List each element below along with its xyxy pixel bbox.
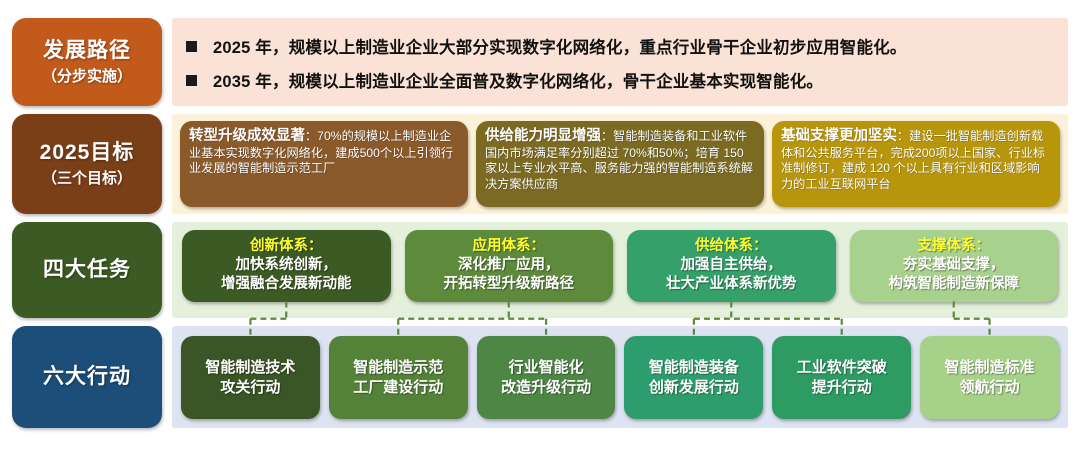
task-card-application-system[interactable]: 应用体系： 深化推广应用， 开拓转型升级新路径 <box>405 230 614 302</box>
row-development-path: 发展路径 （分步实施） 2025 年，规模以上制造业企业大部分实现数字化网络化，… <box>12 18 1068 106</box>
action-card-demo-factory[interactable]: 智能制造示范 工厂建设行动 <box>329 336 468 419</box>
action-card-line2: 创新发展行动 <box>649 379 739 396</box>
row-label-subtitle: （分步实施） <box>42 68 132 87</box>
task-card-innovation-system[interactable]: 创新体系： 加快系统创新， 增强融合发展新动能 <box>182 230 391 302</box>
goal-card-transformation[interactable]: 转型升级成效显著：70%的规模以上制造业企业基本实现数字化网络化，建成500个以… <box>180 121 468 207</box>
row-label-title: 2025目标 <box>40 140 135 166</box>
action-card-line1: 智能制造标准 <box>945 359 1035 376</box>
action-card-line2: 改造升级行动 <box>501 379 591 396</box>
action-card-technology-breakthrough[interactable]: 智能制造技术 攻关行动 <box>181 336 320 419</box>
bullet-text-2035: 2035 年，规模以上制造业企业全面普及数字化网络化，骨干企业基本实现智能化。 <box>213 68 823 92</box>
action-card-line2: 攻关行动 <box>220 379 280 396</box>
action-card-line1: 智能制造装备 <box>649 359 739 376</box>
development-path-panel: 2025 年，规模以上制造业企业大部分实现数字化网络化，重点行业骨干企业初步应用… <box>172 18 1068 106</box>
action-card-line1: 工业软件突破 <box>797 359 887 376</box>
row-label-six-actions: 六大行动 <box>12 326 162 428</box>
action-card-industry-upgrade[interactable]: 行业智能化 改造升级行动 <box>477 336 616 419</box>
square-bullet-icon <box>186 75 197 86</box>
task-card-line2: 开拓转型升级新路径 <box>411 275 608 294</box>
bullet-item: 2035 年，规模以上制造业企业全面普及数字化网络化，骨干企业基本实现智能化。 <box>186 68 1054 92</box>
task-card-line1: 夯实基础支撑， <box>856 256 1053 275</box>
task-card-heading: 应用体系： <box>411 237 608 256</box>
action-card-line2: 领航行动 <box>960 379 1020 396</box>
row-label-title: 六大行动 <box>43 364 131 390</box>
action-card-equipment-innovation[interactable]: 智能制造装备 创新发展行动 <box>624 336 763 419</box>
task-card-supply-system[interactable]: 供给体系： 加强自主供给， 壮大产业体系新优势 <box>627 230 836 302</box>
row-label-subtitle: （三个目标） <box>42 170 132 189</box>
task-card-heading: 供给体系： <box>633 237 830 256</box>
task-card-line1: 加强自主供给， <box>633 256 830 275</box>
goal-card-heading: 转型升级成效显著 <box>189 128 305 144</box>
task-card-heading: 创新体系： <box>188 237 385 256</box>
row-2025-goals: 2025目标 （三个目标） 转型升级成效显著：70%的规模以上制造业企业基本实现… <box>12 114 1068 214</box>
row-four-tasks: 四大任务 创新体系： 加快系统创新， 增强融合发展新动能 应用体系： 深化推广应… <box>12 222 1068 318</box>
row-label-development-path: 发展路径 （分步实施） <box>12 18 162 106</box>
row-label-four-tasks: 四大任务 <box>12 222 162 318</box>
action-card-line2: 提升行动 <box>812 379 872 396</box>
action-card-software-breakthrough[interactable]: 工业软件突破 提升行动 <box>772 336 911 419</box>
actions-panel: 智能制造技术 攻关行动 智能制造示范 工厂建设行动 行业智能化 改造升级行动 智… <box>172 326 1068 428</box>
action-card-line1: 行业智能化 <box>509 359 584 376</box>
bullet-item: 2025 年，规模以上制造业企业大部分实现数字化网络化，重点行业骨干企业初步应用… <box>186 34 1054 58</box>
goal-card-heading: 基础支撑更加坚实 <box>781 128 897 144</box>
task-card-heading: 支撑体系： <box>856 237 1053 256</box>
smart-manufacturing-roadmap: 发展路径 （分步实施） 2025 年，规模以上制造业企业大部分实现数字化网络化，… <box>0 0 1080 458</box>
row-label-title: 四大任务 <box>43 257 131 283</box>
task-card-line1: 深化推广应用， <box>411 256 608 275</box>
task-card-line2: 壮大产业体系新优势 <box>633 275 830 294</box>
task-card-line2: 增强融合发展新动能 <box>188 275 385 294</box>
row-six-actions: 六大行动 智能制造技术 攻关行动 智能制造示范 工厂建设行动 行业智能化 改造升… <box>12 326 1068 428</box>
task-card-line2: 构筑智能制造新保障 <box>856 275 1053 294</box>
goals-panel: 转型升级成效显著：70%的规模以上制造业企业基本实现数字化网络化，建成500个以… <box>172 114 1068 214</box>
action-card-line2: 工厂建设行动 <box>353 379 443 396</box>
goal-card-supply-capacity[interactable]: 供给能力明显增强：智能制造装备和工业软件国内市场满足率分别超过 70%和50%；… <box>476 121 764 207</box>
square-bullet-icon <box>186 41 197 52</box>
action-card-line1: 智能制造技术 <box>205 359 295 376</box>
row-label-2025-goals: 2025目标 （三个目标） <box>12 114 162 214</box>
goal-card-heading: 供给能力明显增强 <box>485 128 601 144</box>
goal-card-foundation-support[interactable]: 基础支撑更加坚实：建设一批智能制造创新载体和公共服务平台，完成200项以上国家、… <box>772 121 1060 207</box>
tasks-panel: 创新体系： 加快系统创新， 增强融合发展新动能 应用体系： 深化推广应用， 开拓… <box>172 222 1068 318</box>
task-card-support-system[interactable]: 支撑体系： 夯实基础支撑， 构筑智能制造新保障 <box>850 230 1059 302</box>
action-card-standards-leadership[interactable]: 智能制造标准 领航行动 <box>920 336 1059 419</box>
row-label-title: 发展路径 <box>43 38 131 64</box>
bullet-text-2025: 2025 年，规模以上制造业企业大部分实现数字化网络化，重点行业骨干企业初步应用… <box>213 34 907 58</box>
task-card-line1: 加快系统创新， <box>188 256 385 275</box>
action-card-line1: 智能制造示范 <box>353 359 443 376</box>
